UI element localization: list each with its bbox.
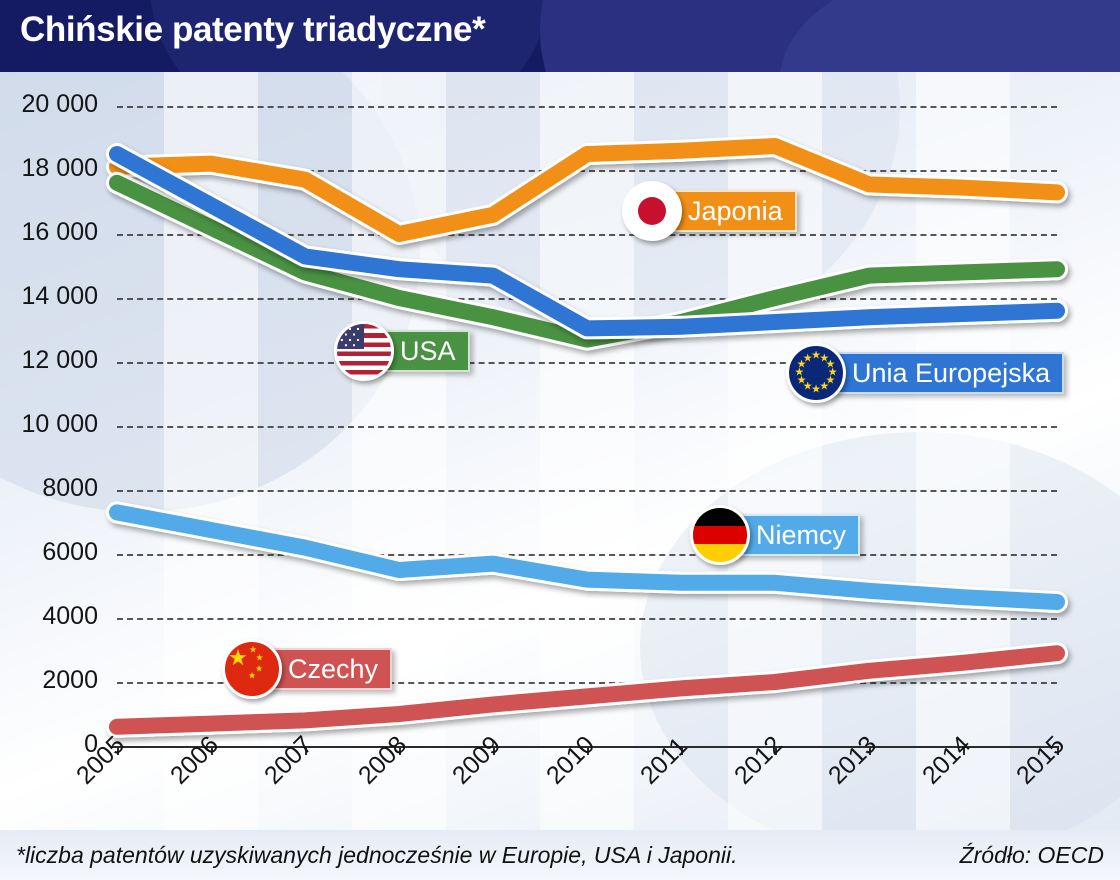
source-label: Źródło: OECD xyxy=(960,842,1104,869)
callout-label: Unia Europejska xyxy=(824,352,1064,394)
y-tick-label: 10 000 xyxy=(0,410,98,439)
germany-flag-icon xyxy=(690,505,750,565)
footer-bar: *liczba patentów uzyskiwanych jednocześn… xyxy=(0,830,1120,880)
y-tick-label: 14 000 xyxy=(0,282,98,311)
y-tick-label: 20 000 xyxy=(0,90,98,119)
callout-unia-europejska[interactable]: ★★★★★★★★★★★★Unia Europejska xyxy=(786,352,1064,394)
y-tick-label: 16 000 xyxy=(0,218,98,247)
y-tick-label: 2000 xyxy=(0,666,98,695)
y-tick-label: 18 000 xyxy=(0,154,98,183)
callout-czechy[interactable]: ★★★★★Czechy xyxy=(222,648,392,690)
chart-canvas: 0200040006000800010 00012 00014 00016 00… xyxy=(0,72,1120,830)
page-title: Chińskie patenty triadyczne* xyxy=(20,10,485,50)
callout-niemcy[interactable]: Niemcy xyxy=(690,514,860,556)
callout-japonia[interactable]: Japonia xyxy=(622,190,797,232)
header-banner: Chińskie patenty triadyczne* xyxy=(0,0,1120,72)
eu-flag-icon: ★★★★★★★★★★★★ xyxy=(786,343,846,403)
chart-page: Chińskie patenty triadyczne* 02000400060… xyxy=(0,0,1120,880)
japan-flag-icon xyxy=(622,181,682,241)
callout-usa[interactable]: USA xyxy=(334,330,470,372)
header-decor-blob-3 xyxy=(780,0,1120,72)
y-tick-label: 4000 xyxy=(0,602,98,631)
y-tick-label: 12 000 xyxy=(0,346,98,375)
series-niemcy xyxy=(117,512,1057,602)
y-tick-label: 6000 xyxy=(0,538,98,567)
usa-flag-icon xyxy=(334,321,394,381)
china-flag-icon: ★★★★★ xyxy=(222,639,282,699)
y-tick-label: 0 xyxy=(0,730,98,759)
y-tick-label: 8000 xyxy=(0,474,98,503)
footnote: *liczba patentów uzyskiwanych jednocześn… xyxy=(16,842,737,869)
